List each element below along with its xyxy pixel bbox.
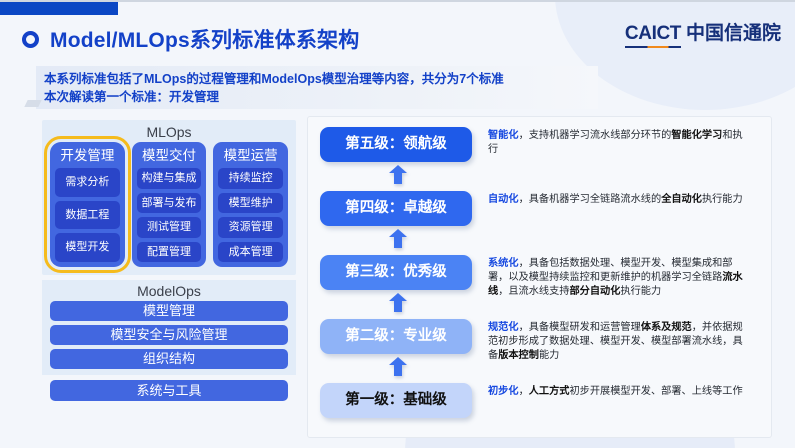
maturity-level-description: 初步化，人工方式初步开展模型开发、部署、上线等工作 [488,383,750,399]
maturity-levels-panel: 第五级：领航级智能化，支持机器学习流水线部分环节的智能化学习和执行第四级：卓越级… [307,116,772,438]
mlops-heading: MLOps [50,123,288,142]
mlops-column-items: 需求分析数据工程模型开发 [55,168,120,262]
mlops-column-title: 模型运营 [218,145,283,168]
mlops-column-1[interactable]: 开发管理需求分析数据工程模型开发 [50,142,125,267]
modelops-heading: ModelOps [50,282,288,301]
maturity-level-row-3: 第三级：优秀级系统化，具备包括数据处理、模型开发、模型集成和部署，以及模型持续监… [308,255,771,299]
mlops-item-chip[interactable]: 资源管理 [218,217,283,238]
mlops-architecture-panel: MLOps 开发管理需求分析数据工程模型开发模型交付构建与集成部署与发布测试管理… [42,120,296,442]
subtitle-band: 本系列标准包括了MLOps的过程管理和ModelOps模型治理等内容，共分为7个… [36,66,598,109]
maturity-level-row-5: 第五级：领航级智能化，支持机器学习流水线部分环节的智能化学习和执行 [308,127,771,162]
maturity-level-box[interactable]: 第二级：专业级 [320,319,472,354]
maturity-level-row-2: 第二级：专业级规范化，具备模型研发和运营管理体系及规范，并依据规范初步形成了数据… [308,319,771,363]
maturity-level-box[interactable]: 第四级：卓越级 [320,191,472,226]
subtitle-line-1: 本系列标准包括了MLOps的过程管理和ModelOps模型治理等内容，共分为7个… [44,70,598,88]
maturity-level-row-4: 第四级：卓越级自动化，具备机器学习全链路流水线的全自动化执行能力 [308,191,771,226]
mlops-item-chip[interactable]: 测试管理 [137,217,202,238]
subtitle-line-2: 本次解读第一个标准：开发管理 [44,88,598,106]
page-title: Model/MLOps系列标准体系架构 [50,24,359,54]
mlops-item-chip[interactable]: 持续监控 [218,168,283,189]
maturity-level-description: 智能化，支持机器学习流水线部分环节的智能化学习和执行 [488,127,750,157]
mlops-item-chip[interactable]: 构建与集成 [137,168,202,189]
system-tools-bar[interactable]: 系统与工具 [50,380,288,401]
slide-content: MLOps 开发管理需求分析数据工程模型开发模型交付构建与集成部署与发布测试管理… [0,116,795,448]
mlops-block: MLOps 开发管理需求分析数据工程模型开发模型交付构建与集成部署与发布测试管理… [42,120,296,275]
mlops-item-chip[interactable]: 模型开发 [55,233,120,262]
mlops-columns: 开发管理需求分析数据工程模型开发模型交付构建与集成部署与发布测试管理配置管理模型… [50,142,288,267]
mlops-column-items: 构建与集成部署与发布测试管理配置管理 [137,168,202,262]
caict-logo: CAICT 中国信通院 [625,18,781,48]
mlops-item-chip[interactable]: 成本管理 [218,242,283,263]
modelops-bar[interactable]: 模型管理 [50,301,288,321]
up-arrow-icon [388,293,408,312]
mlops-column-items: 持续监控模型维护资源管理成本管理 [218,168,283,262]
mlops-column-2[interactable]: 模型交付构建与集成部署与发布测试管理配置管理 [132,142,207,267]
mlops-item-chip[interactable]: 部署与发布 [137,193,202,214]
logo-chinese-text: 中国信通院 [686,18,781,48]
maturity-level-description: 自动化，具备机器学习全链路流水线的全自动化执行能力 [488,191,750,207]
up-arrow-icon [388,165,408,184]
modelops-bars: 模型管理模型安全与风险管理组织结构 [50,301,288,369]
maturity-level-box[interactable]: 第三级：优秀级 [320,255,472,290]
modelops-bar[interactable]: 模型安全与风险管理 [50,325,288,345]
up-arrow-icon [388,357,408,376]
up-arrow-icon [388,229,408,248]
top-hairline [0,0,795,2]
mlops-column-title: 开发管理 [55,145,120,168]
ring-icon [22,31,39,48]
mlops-item-chip[interactable]: 配置管理 [137,242,202,263]
maturity-level-description: 规范化，具备模型研发和运营管理体系及规范，并依据规范初步形成了数据处理、模型开发… [488,319,750,363]
mlops-column-title: 模型交付 [137,145,202,168]
maturity-level-box[interactable]: 第五级：领航级 [320,127,472,162]
top-accent-bar [0,2,118,15]
logo-mark-text: CAICT [625,23,681,48]
maturity-level-list: 第五级：领航级智能化，支持机器学习流水线部分环节的智能化学习和执行第四级：卓越级… [308,117,771,437]
mlops-item-chip[interactable]: 数据工程 [55,201,120,230]
mlops-item-chip[interactable]: 需求分析 [55,168,120,197]
modelops-bar[interactable]: 组织结构 [50,349,288,369]
mlops-column-3[interactable]: 模型运营持续监控模型维护资源管理成本管理 [213,142,288,267]
modelops-block: ModelOps 模型管理模型安全与风险管理组织结构 [42,280,296,375]
mlops-item-chip[interactable]: 模型维护 [218,193,283,214]
maturity-level-box[interactable]: 第一级：基础级 [320,383,472,418]
maturity-level-row-1: 第一级：基础级初步化，人工方式初步开展模型开发、部署、上线等工作 [308,383,771,418]
maturity-level-description: 系统化，具备包括数据处理、模型开发、模型集成和部署，以及模型持续监控和更新维护的… [488,255,750,299]
